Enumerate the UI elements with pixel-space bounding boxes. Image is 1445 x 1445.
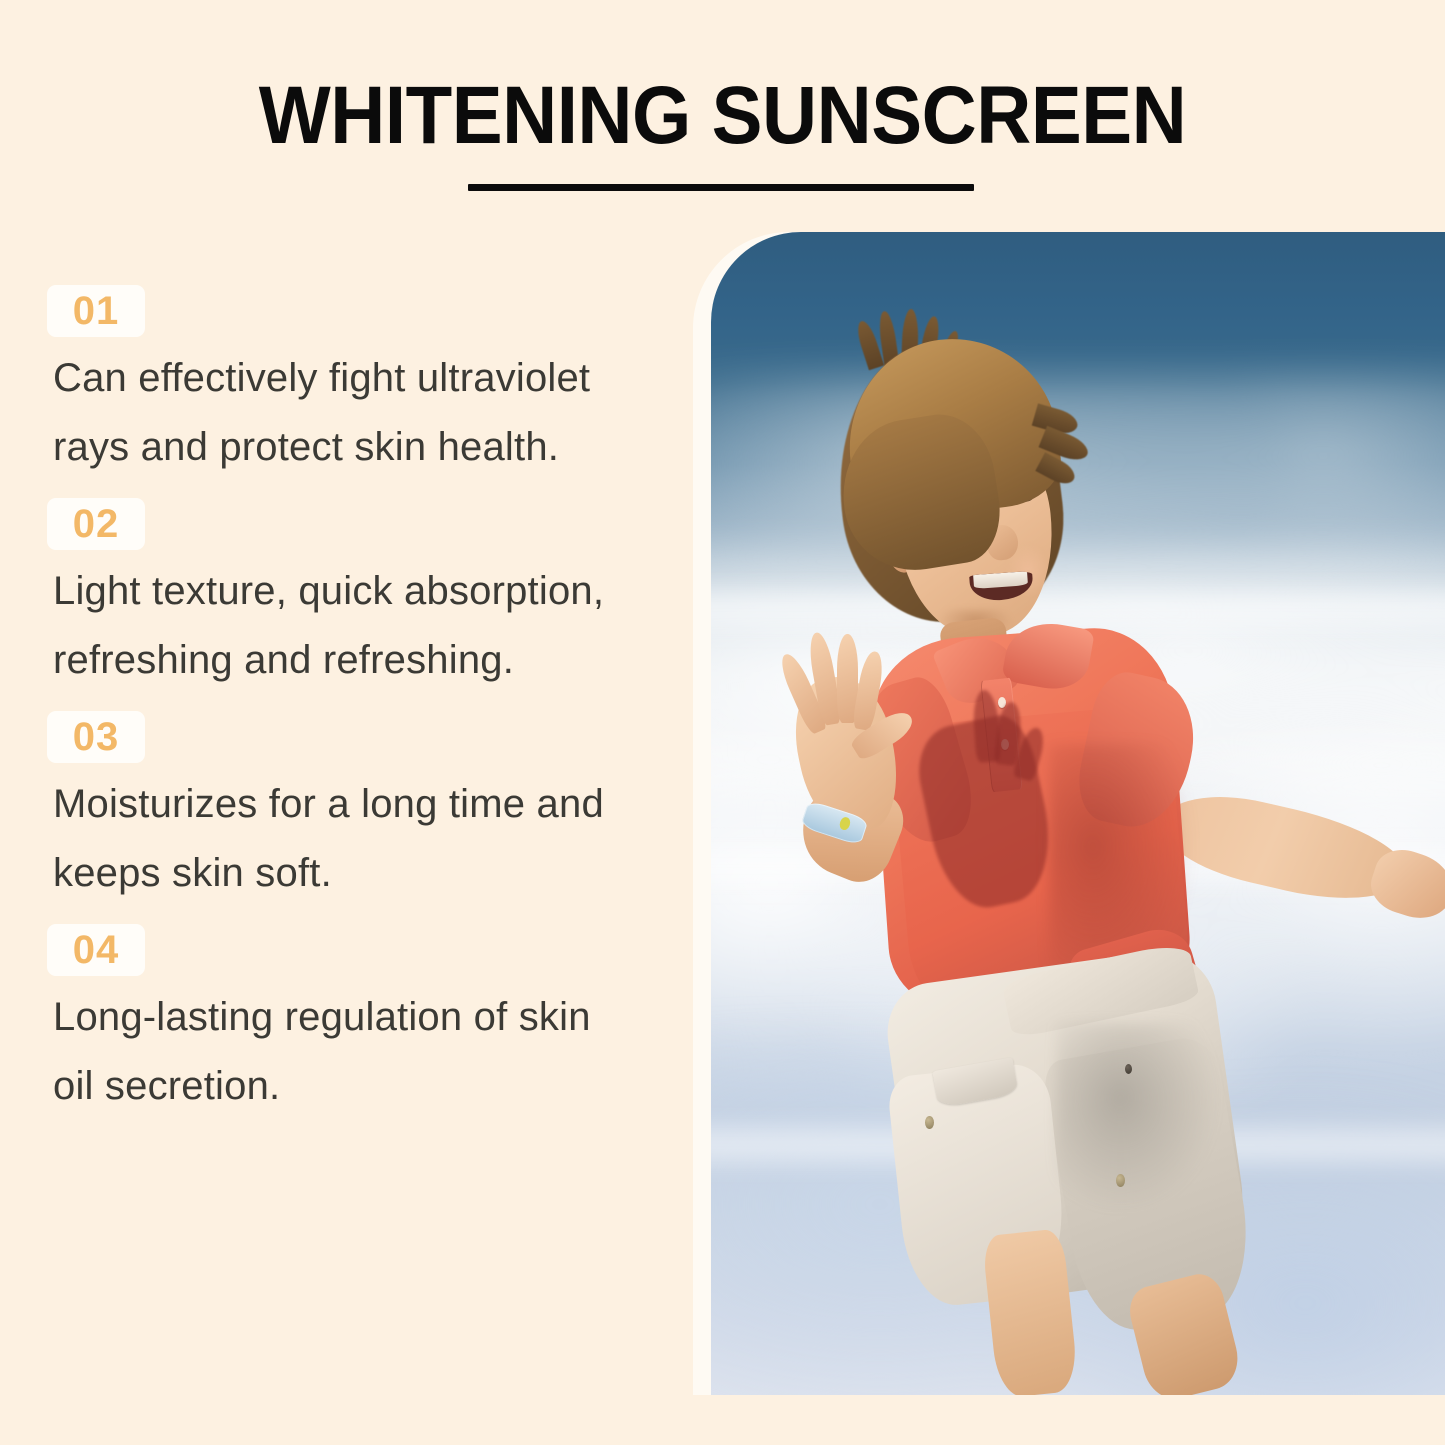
shorts-stud: [1116, 1174, 1125, 1187]
teeth: [973, 571, 1028, 589]
title-underline: [468, 184, 974, 191]
left-leg: [982, 1228, 1079, 1395]
feature-badge-02: 02: [47, 498, 145, 550]
feature-item-01: 01 Can effectively fight ultraviolet ray…: [47, 285, 662, 482]
feature-badge-01: 01: [47, 285, 145, 337]
feature-text-01: Can effectively fight ultraviolet rays a…: [53, 344, 638, 482]
feature-item-03: 03 Moisturizes for a long time and keeps…: [47, 711, 662, 908]
feature-number-04: 04: [47, 924, 145, 976]
feature-badge-04: 04: [47, 924, 145, 976]
poster-canvas: WHITENING SUNSCREEN 01 Can effectively f…: [0, 0, 1445, 1445]
photo-panel: [711, 232, 1445, 1395]
boy-figure: [711, 232, 1445, 1395]
shorts-stud: [925, 1116, 934, 1129]
feature-text-04: Long-lasting regulation of skin oil secr…: [53, 983, 633, 1121]
beach-boy-photo: [711, 232, 1445, 1395]
feature-text-03: Moisturizes for a long time and keeps sk…: [53, 770, 653, 908]
feature-number-02: 02: [47, 498, 145, 550]
feature-number-01: 01: [47, 285, 145, 337]
header: WHITENING SUNSCREEN: [0, 0, 1445, 215]
feature-badge-03: 03: [47, 711, 145, 763]
shorts-shading: [1056, 1023, 1217, 1209]
page-title: WHITENING SUNSCREEN: [51, 74, 1395, 158]
feature-number-03: 03: [47, 711, 145, 763]
feature-list: 01 Can effectively fight ultraviolet ray…: [47, 285, 662, 1121]
feature-item-04: 04 Long-lasting regulation of skin oil s…: [47, 924, 662, 1121]
feature-item-02: 02 Light texture, quick absorption, refr…: [47, 498, 662, 695]
feature-text-02: Light texture, quick absorption, refresh…: [53, 557, 638, 695]
